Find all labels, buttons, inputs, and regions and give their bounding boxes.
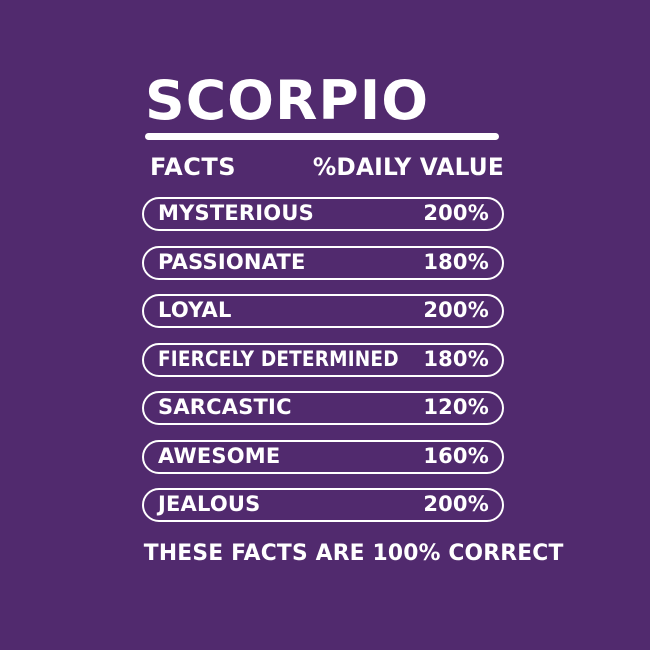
column-header-facts: FACTS — [150, 153, 236, 181]
footer-disclaimer: THESE FACTS ARE 100% CORRECT — [144, 541, 502, 567]
fact-row: PASSIONATE 180% — [142, 246, 504, 280]
fact-label: FIERCELY DETERMINED — [158, 349, 399, 370]
fact-row: AWESOME 160% — [142, 440, 504, 474]
fact-row: JEALOUS 200% — [142, 488, 504, 522]
fact-label: SARCASTIC — [158, 397, 292, 418]
fact-label: LOYAL — [158, 300, 232, 321]
fact-label: MYSTERIOUS — [158, 203, 314, 224]
fact-value: 160% — [423, 446, 489, 467]
fact-value: 120% — [423, 397, 489, 418]
column-headers: FACTS %DAILY VALUE — [142, 153, 504, 183]
fact-row: FIERCELY DETERMINED 180% — [142, 343, 504, 377]
fact-label: PASSIONATE — [158, 252, 306, 273]
column-header-daily-value: %DAILY VALUE — [313, 153, 504, 181]
fact-value: 180% — [423, 252, 489, 273]
fact-row: LOYAL 200% — [142, 294, 504, 328]
fact-value: 200% — [423, 203, 489, 224]
fact-row: MYSTERIOUS 200% — [142, 197, 504, 231]
fact-value: 200% — [423, 494, 489, 515]
poster-content: SCORPIO FACTS %DAILY VALUE MYSTERIOUS 20… — [142, 0, 504, 650]
fact-label: AWESOME — [158, 446, 280, 467]
facts-list: MYSTERIOUS 200% PASSIONATE 180% LOYAL 20… — [142, 197, 504, 537]
scorpio-nutrition-facts-poster: SCORPIO FACTS %DAILY VALUE MYSTERIOUS 20… — [0, 0, 650, 650]
fact-value: 180% — [423, 349, 489, 370]
page-title: SCORPIO — [145, 74, 508, 128]
fact-row: SARCASTIC 120% — [142, 391, 504, 425]
fact-value: 200% — [423, 300, 489, 321]
fact-label: JEALOUS — [158, 494, 260, 515]
title-divider-rule — [145, 133, 499, 140]
